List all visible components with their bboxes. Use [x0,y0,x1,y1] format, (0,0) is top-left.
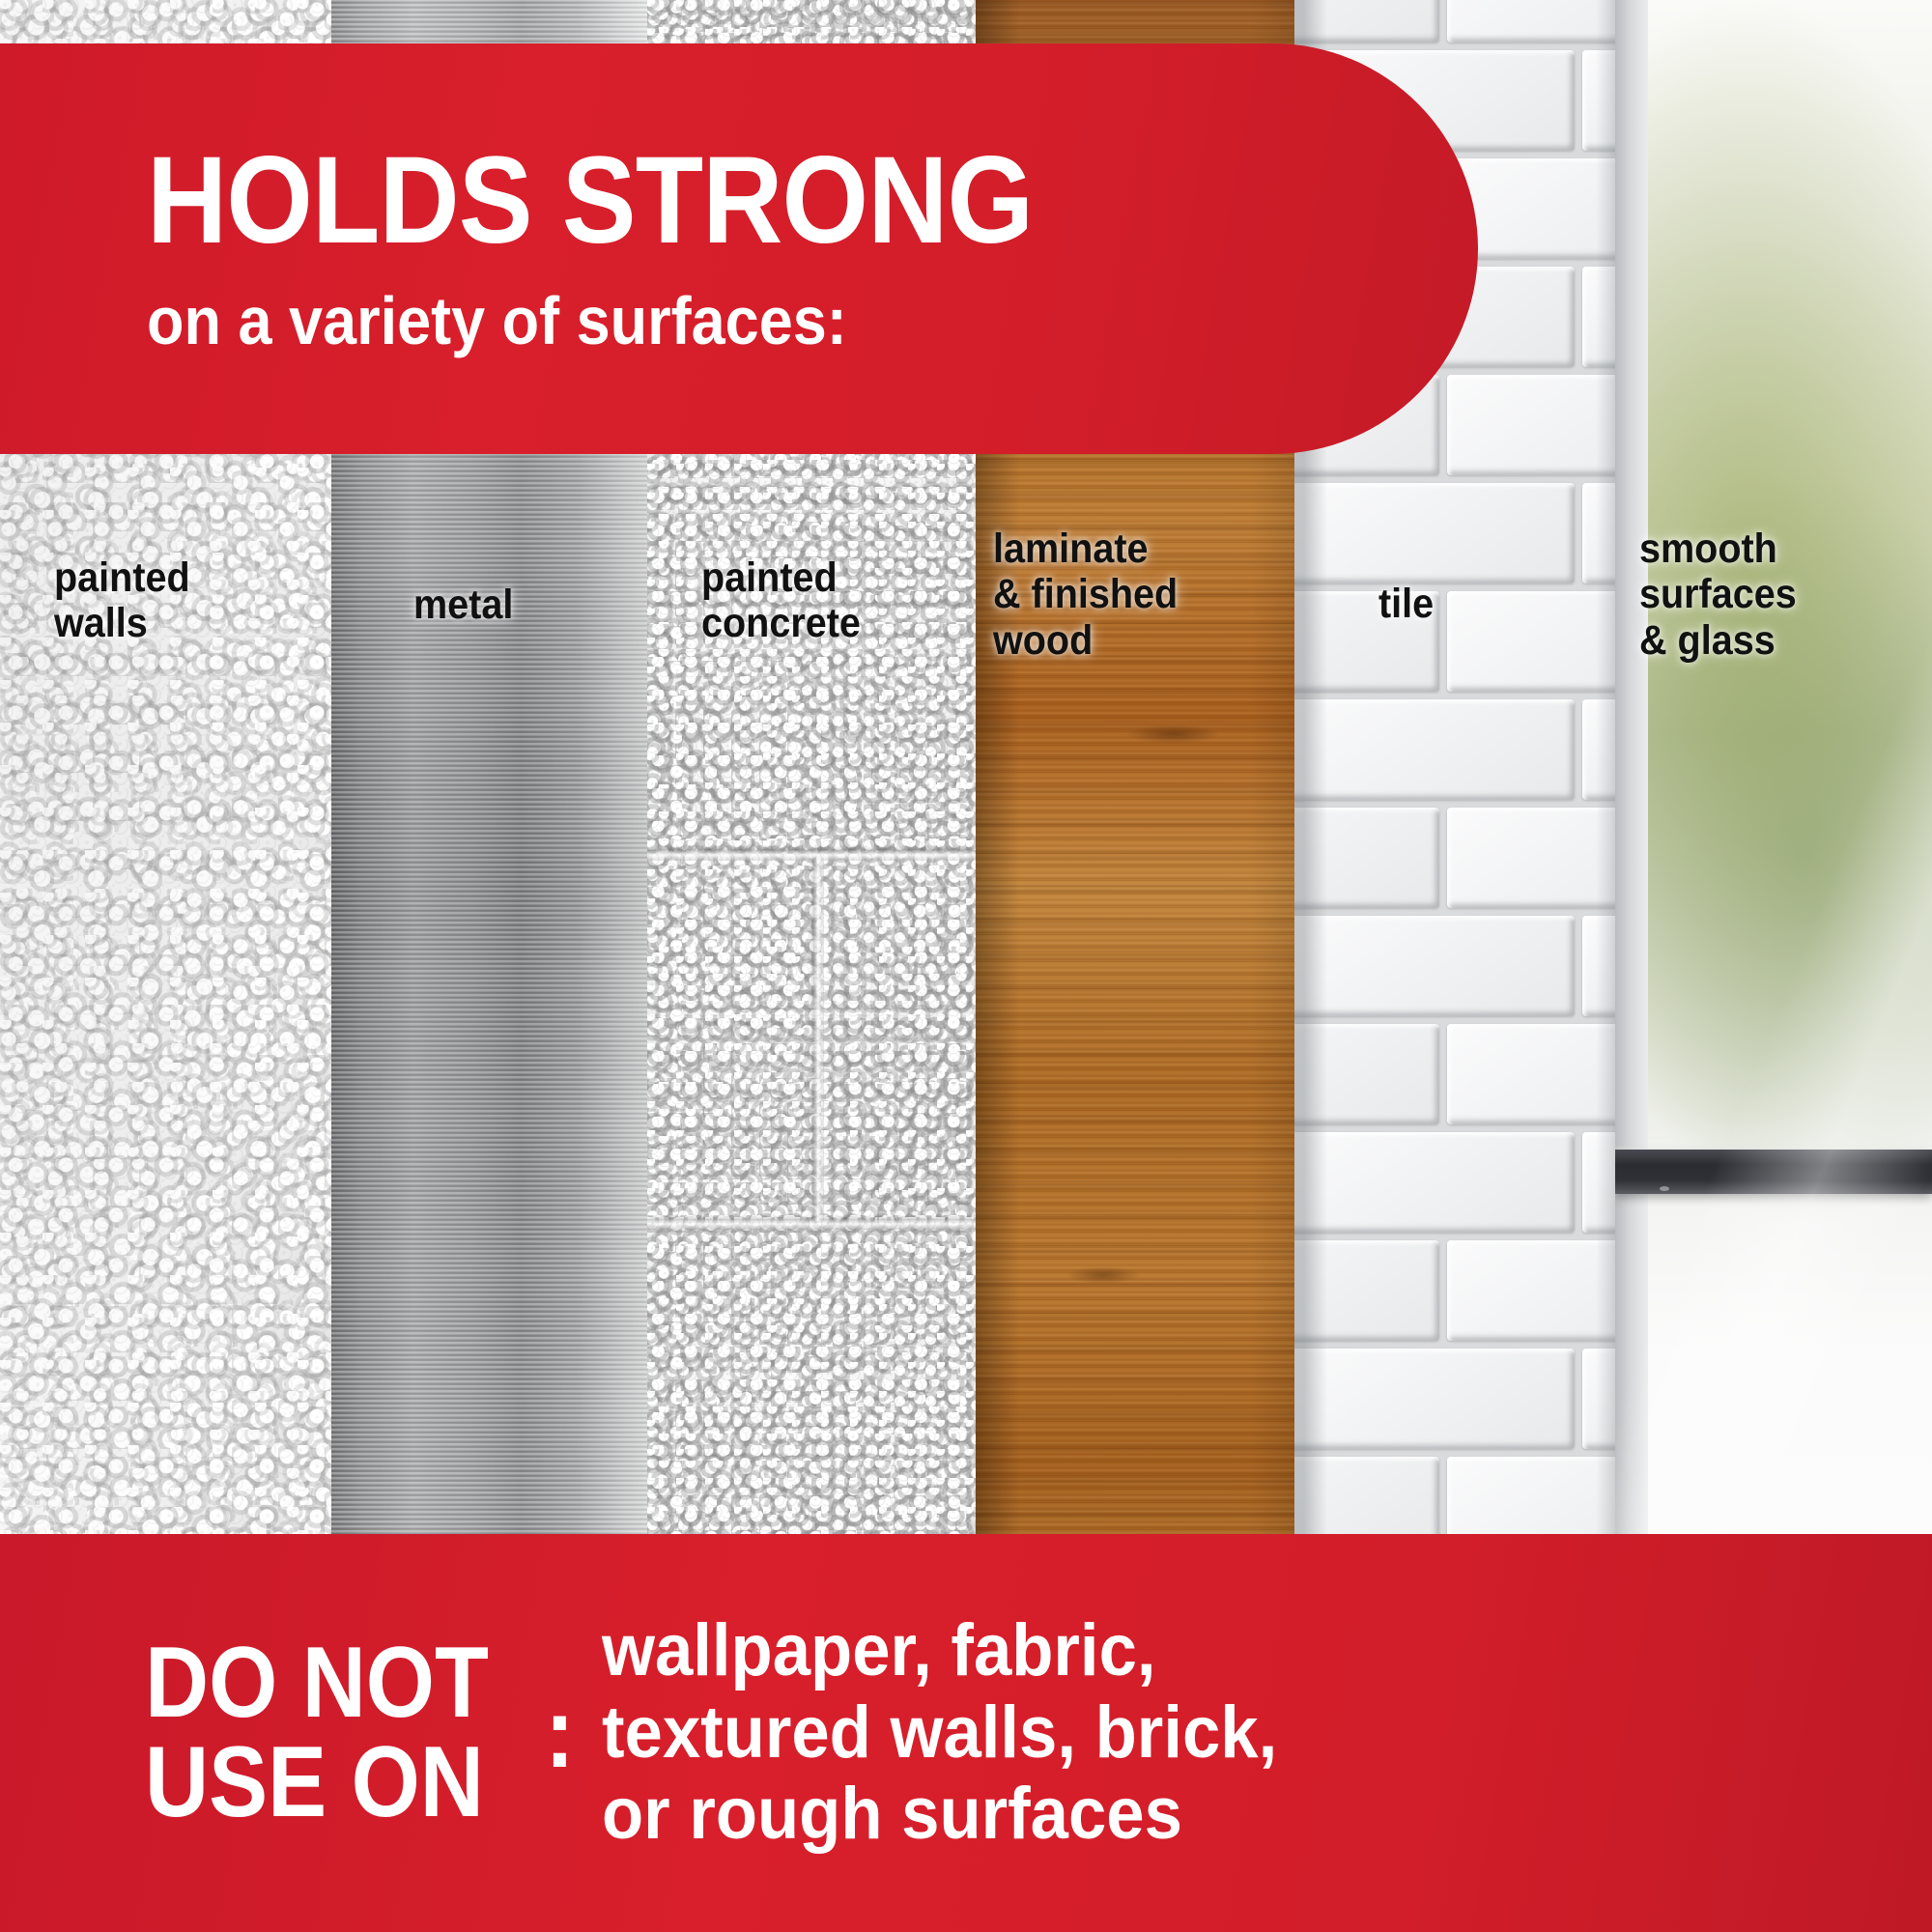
avoid-surface-list: wallpaper, fabric, textured walls, brick… [602,1610,1277,1855]
page-title: HOLDS STRONG [147,143,1345,259]
do-not-use-on-banner: DO NOT USE ON : wallpaper, fabric, textu… [0,1534,1932,1932]
surface-label-smooth-glass: smooth surfaces & glass [1639,526,1797,664]
mortar-joint-vertical [813,858,824,1221]
mortar-joint-horizontal [647,1219,976,1230]
surface-label-metal: metal [413,582,513,628]
surface-label-laminate-wood: laminate & finished wood [993,526,1178,664]
holds-strong-banner: HOLDS STRONG on a variety of surfaces: [0,43,1478,454]
warning-heading: DO NOT USE ON [145,1634,489,1833]
surface-label-tile: tile [1378,582,1434,627]
page-subtitle: on a variety of surfaces: [147,287,1345,355]
surface-label-painted-walls: painted walls [54,555,190,647]
surface-label-painted-concrete: painted concrete [701,555,861,647]
warning-heading-text: DO NOT USE ON [145,1627,489,1838]
product-surface-infographic: HOLDS STRONG on a variety of surfaces: p… [0,0,1932,1932]
mortar-joint-horizontal [647,850,976,861]
warning-colon: : [546,1684,575,1783]
